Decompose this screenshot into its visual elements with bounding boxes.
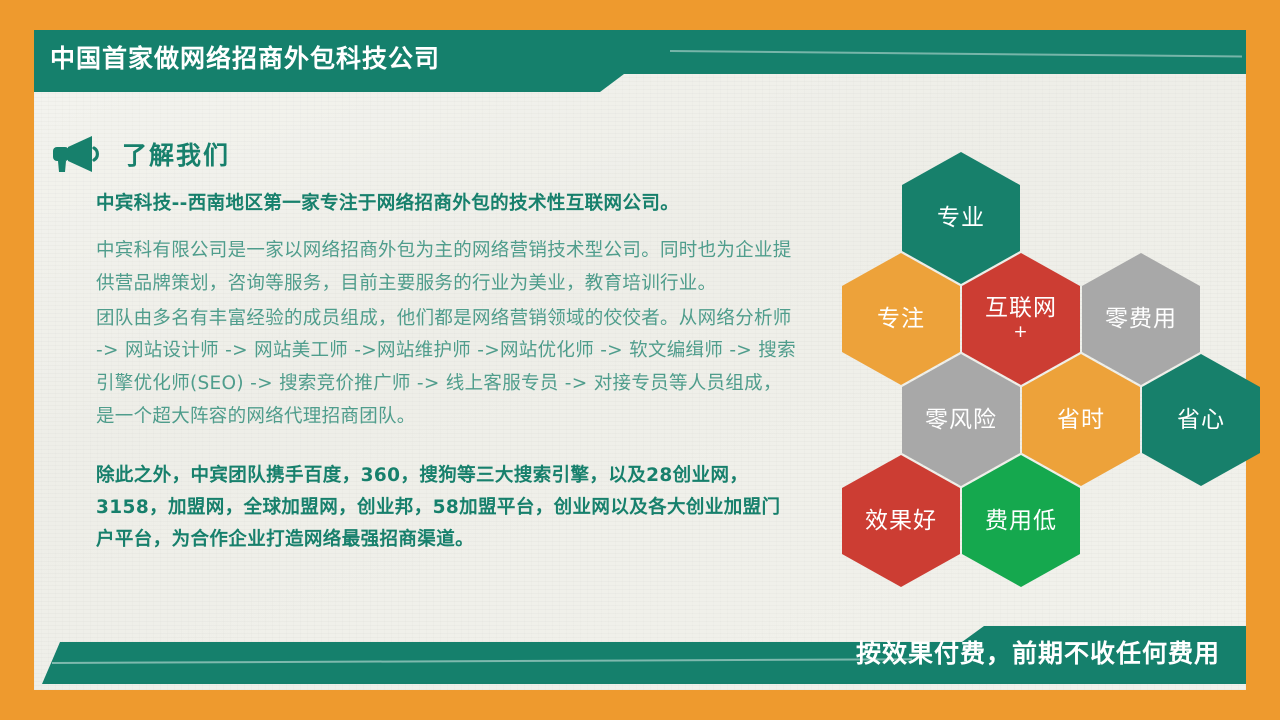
megaphone-icon	[48, 134, 100, 174]
paragraph-one: 中宾科有限公司是一家以网络招商外包为主的网络营销技术型公司。同时也为企业提供营品…	[96, 235, 796, 301]
hexagon-label: 零费用	[1105, 306, 1177, 332]
closing-paragraph: 除此之外，中宾团队携手百度，360，搜狗等三大搜索引擎，以及28创业网，3158…	[96, 460, 796, 555]
hexagon-label: 专注	[877, 306, 925, 332]
header-title: 中国首家做网络招商外包科技公司	[50, 30, 440, 92]
hexagon-label: 零风险	[925, 407, 997, 433]
hexagon-label: 效果好	[865, 508, 937, 534]
body-text-column: 中宾科技--西南地区第一家专注于网络招商外包的技术性互联网公司。 中宾科有限公司…	[96, 190, 796, 556]
lead-paragraph: 中宾科技--西南地区第一家专注于网络招商外包的技术性互联网公司。	[96, 190, 796, 219]
hexagon-label: 省心	[1177, 407, 1225, 433]
hexagon-sublabel: +	[1013, 323, 1028, 343]
slide-root: 中国首家做网络招商外包科技公司 了解我们 中宾科技--西南地区第一家专注于网络招…	[0, 0, 1280, 720]
hexagon-cluster: 专业专注互联网+零费用零风险省时省心效果好费用低	[834, 152, 1234, 542]
section-heading: 了解我们	[48, 132, 230, 176]
hexagon-label: 互联网	[985, 295, 1057, 321]
footer-banner: 按效果付费，前期不收任何费用	[34, 626, 1246, 690]
header-banner: 中国首家做网络招商外包科技公司	[34, 30, 1246, 92]
footer-tagline: 按效果付费，前期不收任何费用	[856, 626, 1220, 684]
hexagon-label: 省时	[1057, 407, 1105, 433]
paragraph-two: 团队由多名有丰富经验的成员组成，他们都是网络营销领域的佼佼者。从网络分析师 ->…	[96, 303, 796, 435]
hexagon-label: 专业	[937, 205, 985, 231]
section-title: 了解我们	[122, 136, 230, 172]
hexagon-label: 费用低	[985, 508, 1057, 534]
